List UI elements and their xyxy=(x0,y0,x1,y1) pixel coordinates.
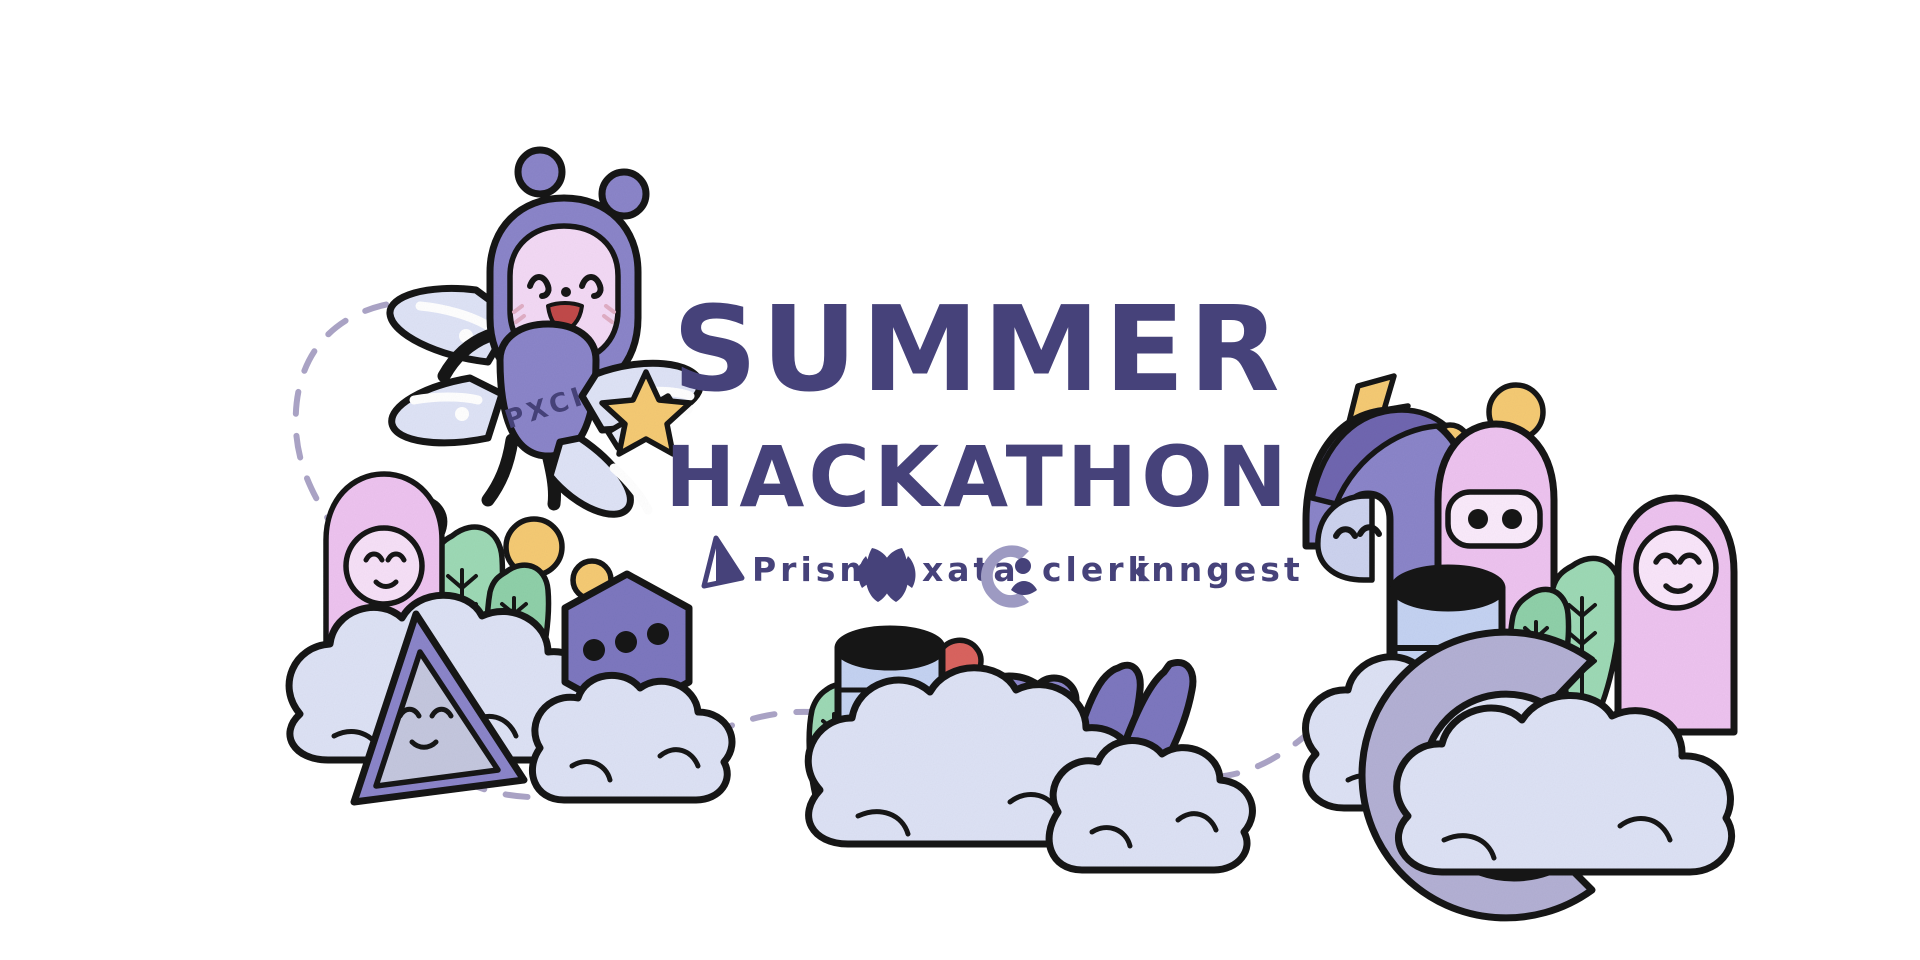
sponsor-inngest[interactable]: inngest xyxy=(1136,550,1304,589)
banner-canvas: SUMMER HACKATHON PXCI Prisma xata clerk … xyxy=(0,0,1920,960)
title-block: SUMMER HACKATHON xyxy=(665,280,1291,526)
page-title-line1-text: SUMMER xyxy=(672,280,1283,418)
page-title-line2-text: HACKATHON xyxy=(665,428,1291,526)
banner-illustration: .o { stroke:#141414; stroke-width:7; str… xyxy=(0,0,1920,960)
sponsor-inngest-label: inngest xyxy=(1136,550,1304,589)
pink-blob-character xyxy=(1618,498,1734,732)
